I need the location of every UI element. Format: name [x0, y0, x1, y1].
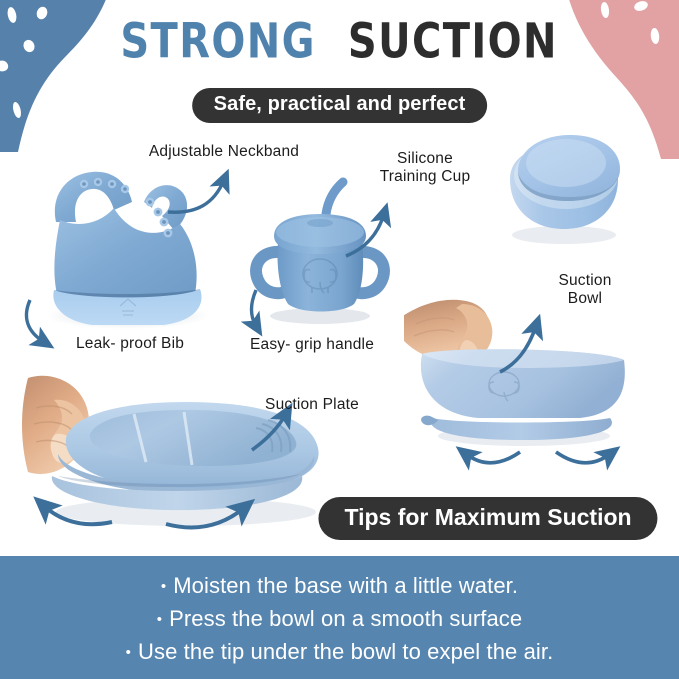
product-suction-bowl — [404, 288, 639, 448]
tip-item-3: •Use the tip under the bowl to expel the… — [126, 637, 554, 668]
bullet-icon: • — [157, 605, 162, 635]
label-suction-bowl: Suction Bowl — [530, 272, 640, 308]
tips-heading-badge: Tips for Maximum Suction — [318, 497, 657, 540]
infographic-canvas: STRONGSUCTION Safe, practical and perfec… — [0, 0, 679, 679]
bullet-icon: • — [126, 638, 131, 668]
label-adjustable-neckband: Adjustable Neckband — [134, 143, 314, 161]
label-easy-grip-handle: Easy- grip handle — [232, 336, 392, 354]
arrow-bowl-base-right — [556, 452, 610, 463]
product-lidded-suction-bowl — [500, 127, 628, 245]
tip-item-2: •Press the bowl on a smooth surface — [157, 604, 523, 635]
tip-text-1: Moisten the base with a little water. — [173, 573, 518, 598]
page-title: STRONGSUCTION — [0, 20, 679, 70]
bullet-icon: • — [161, 572, 166, 602]
cup-straw — [326, 182, 343, 214]
label-leak-proof-bib: Leak- proof Bib — [50, 335, 210, 353]
title-word-strong: STRONG — [121, 14, 317, 70]
label-suction-plate: Suction Plate — [232, 396, 392, 414]
product-silicone-training-cup — [248, 170, 393, 330]
tip-text-3: Use the tip under the bowl to expel the … — [138, 639, 553, 664]
tips-panel: •Moisten the base with a little water. •… — [0, 556, 679, 679]
arrow-bowl-base-left — [466, 452, 520, 463]
tip-item-1: •Moisten the base with a little water. — [161, 571, 518, 602]
subtitle-badge: Safe, practical and perfect — [192, 88, 488, 123]
label-silicone-training-cup: Silicone Training Cup — [360, 150, 490, 186]
title-word-suction: SUCTION — [348, 14, 558, 70]
tip-text-2: Press the bowl on a smooth surface — [169, 606, 522, 631]
product-leak-proof-bib — [28, 158, 223, 333]
